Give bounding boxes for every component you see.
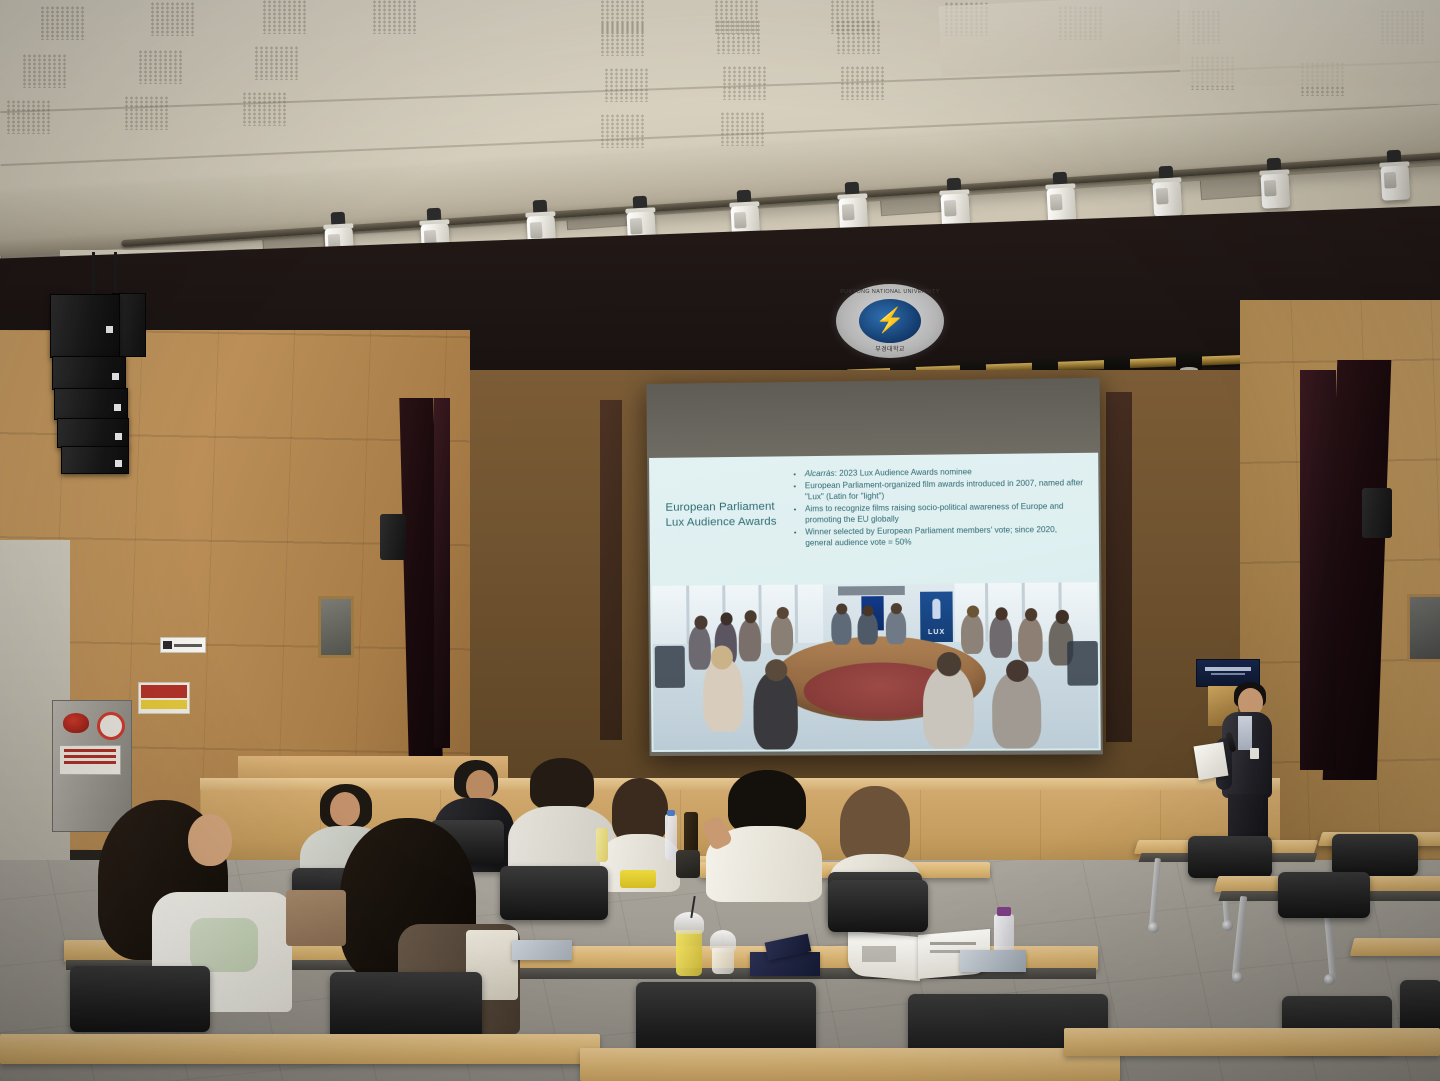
slide-bullet-list: Alcarràs: 2023 Lux Audience Awards nomin… (794, 465, 1087, 549)
spotlight-icon (1377, 149, 1414, 203)
spotlight-icon (1149, 165, 1186, 219)
desk-caster (1148, 922, 1159, 933)
alarm-bell-icon (63, 713, 89, 733)
lux-banner: LUX (920, 592, 953, 643)
chair[interactable] (1278, 872, 1370, 918)
screen-masking (646, 378, 1100, 458)
slide-bullet: Aims to recognize films raising socio-po… (805, 500, 1087, 526)
spotlight-icon (1043, 171, 1080, 225)
stage-curtain (600, 400, 622, 740)
seminar-desk (0, 1034, 600, 1064)
spotlight-icon (1257, 157, 1294, 211)
stage-curtain (1300, 370, 1336, 770)
desk-caster (1222, 920, 1233, 931)
program-brochure[interactable] (960, 950, 1026, 972)
desk-caster (1324, 974, 1335, 985)
emergency-button-icon[interactable] (97, 712, 125, 740)
slide-bullet-italic-lead: Alcarràs (805, 469, 835, 478)
chair[interactable] (330, 972, 482, 1042)
presenter-papers (1194, 742, 1229, 780)
presenter (1214, 682, 1280, 846)
pukyong-national-university-logo: ⚡ PUKYONG NATIONAL UNIVERSITY 부경대학교 (836, 284, 944, 358)
chair[interactable] (500, 866, 608, 920)
audience-member (706, 770, 822, 890)
wall-speaker (1362, 488, 1392, 538)
name-badge (1250, 748, 1259, 759)
bottle-cap (667, 810, 675, 816)
slide-bullet-1-rest: : 2023 Lux Audience Awards nominee (835, 467, 972, 478)
slide-heading-line1: European Parliament (665, 499, 796, 515)
slide-heading: European Parliament Lux Audience Awards (665, 499, 796, 530)
wall-sign-white (160, 637, 206, 653)
fire-panel-label (59, 745, 121, 775)
wall-speaker (380, 514, 406, 560)
bottle-cap (997, 907, 1011, 916)
lux-banner-label: LUX (920, 629, 953, 636)
projection-screen: European Parliament Lux Audience Awards … (646, 378, 1103, 756)
seminar-desk (1064, 1028, 1440, 1056)
slide-photo-eu-roundtable: LUX (652, 582, 1099, 750)
iced-coffee-cup[interactable] (676, 930, 702, 976)
presentation-slide: European Parliament Lux Audience Awards … (649, 453, 1101, 752)
wall-window (1407, 594, 1440, 662)
logo-inner-text: 부경대학교 (836, 344, 944, 353)
seminar-desk (1350, 938, 1440, 956)
plastic-cup[interactable] (712, 948, 734, 974)
seminar-desk (580, 1048, 1120, 1081)
lecture-hall-photo: ⚡ PUKYONG NATIONAL UNIVERSITY 부경대학교 (0, 0, 1440, 1081)
chair[interactable] (636, 982, 816, 1056)
slide-bullet: Winner selected by European Parliament m… (805, 523, 1087, 548)
chair[interactable] (1332, 834, 1418, 876)
chair[interactable] (1188, 836, 1272, 878)
handbag[interactable] (676, 850, 700, 878)
desk-caster (1232, 972, 1243, 983)
stage-curtain (1106, 392, 1132, 742)
logo-outer-text: PUKYONG NATIONAL UNIVERSITY (836, 289, 944, 295)
slide-bullet: European Parliament-organized film award… (805, 477, 1087, 503)
program-brochure[interactable] (512, 940, 572, 960)
line-array-speaker-cluster (50, 258, 160, 468)
handbag[interactable] (286, 890, 346, 946)
wall-sign-red (138, 682, 190, 714)
juice-bottle[interactable] (596, 828, 608, 862)
slide-heading-line2: Lux Audience Awards (666, 514, 797, 530)
chair[interactable] (70, 966, 210, 1032)
cup-dome-lid (674, 912, 704, 934)
snack-bag[interactable] (620, 870, 656, 888)
chair[interactable] (828, 880, 928, 932)
wall-window (318, 596, 354, 658)
stage-curtain (434, 398, 450, 748)
